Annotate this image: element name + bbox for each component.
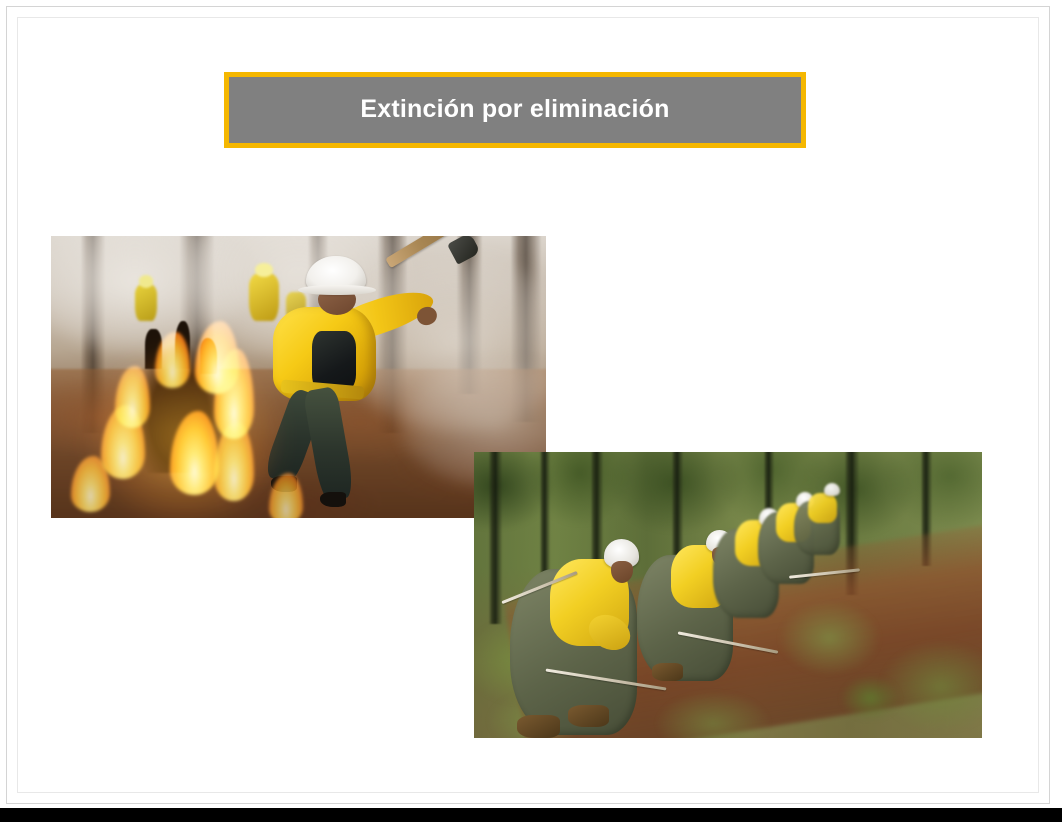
worker-boot [517,715,560,738]
page-title: Extinción por eliminación [360,96,669,124]
distant-firefighter [135,284,157,321]
firefighter-leg [303,386,356,502]
scrub-vegetation [840,675,901,721]
crew-worker [794,501,840,555]
photo-crew-fire-line [474,452,982,738]
firefighter-boot [320,492,346,508]
worker-boot [568,705,609,727]
pine-trunk [672,452,683,555]
bottom-bar [0,808,1062,822]
pine-trunk [489,452,502,624]
pine-trunk [591,452,603,572]
crew-worker [510,569,637,735]
worker-face [611,561,633,583]
slide-title-box: Extinción por eliminación [224,72,806,148]
worker-boot [652,663,683,681]
worker-helmet [824,483,840,496]
firefighter-helmet-brim [298,285,375,296]
scrub-vegetation [779,601,881,675]
firefighter-main [269,253,467,512]
photo-firefighter-burning-stump [51,236,546,518]
worker-yellow-shirt [808,493,837,523]
distant-firefighter-helmet [139,275,154,287]
slide-canvas: Extinción por eliminación [0,0,1062,822]
photo-fire-content [51,236,546,518]
